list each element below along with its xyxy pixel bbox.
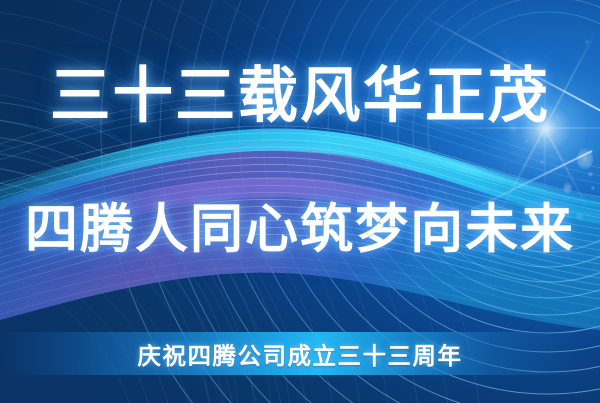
flare-core xyxy=(485,68,600,188)
subtitle-text: 庆祝四腾公司成立三十三周年 xyxy=(138,337,463,371)
headline-line-1: 三十三载风华正茂 xyxy=(50,61,550,131)
bokeh-circle xyxy=(540,160,544,164)
headline-line-2: 四腾人同心筑梦向未来 xyxy=(25,199,575,260)
flare-ray xyxy=(544,58,546,198)
flare-ray xyxy=(500,44,591,213)
wave-cyan-crest xyxy=(0,128,600,224)
bokeh-circle xyxy=(591,186,595,190)
flare-ray xyxy=(490,26,599,230)
background-gradient-bottom-left xyxy=(0,0,600,403)
s-curve-wave-band xyxy=(0,0,600,403)
anniversary-poster: 三十三载风华正茂 四腾人同心筑梦向未来 庆祝四腾公司成立三十三周年 xyxy=(0,0,600,403)
bokeh-circle xyxy=(554,206,559,211)
subtitle-banner-inner: 庆祝四腾公司成立三十三周年 xyxy=(0,332,600,375)
subtitle-banner: 庆祝四腾公司成立三十三周年 xyxy=(0,332,600,375)
wave-violet-streak xyxy=(0,177,600,262)
headline-line-2-wrap: 四腾人同心筑梦向未来 xyxy=(0,203,600,256)
bokeh-circle xyxy=(576,212,583,221)
flare-streak xyxy=(415,11,600,114)
bokeh-circle xyxy=(577,148,593,170)
headline-line-1-wrap: 三十三载风华正茂 xyxy=(0,66,600,127)
background-gradient-top-left xyxy=(0,0,600,403)
vignette-overlay xyxy=(0,0,600,403)
bokeh-circle xyxy=(585,40,589,44)
wave-cyan-highlight xyxy=(70,130,600,207)
flare-ray xyxy=(440,127,600,129)
bokeh-circle xyxy=(508,123,518,133)
concentric-arc-lines xyxy=(0,0,600,403)
bokeh-circle xyxy=(588,172,593,177)
wave-body xyxy=(0,142,600,330)
bokeh-circle xyxy=(563,182,572,194)
flare-streak xyxy=(412,150,592,239)
bokeh-circle xyxy=(525,140,528,143)
